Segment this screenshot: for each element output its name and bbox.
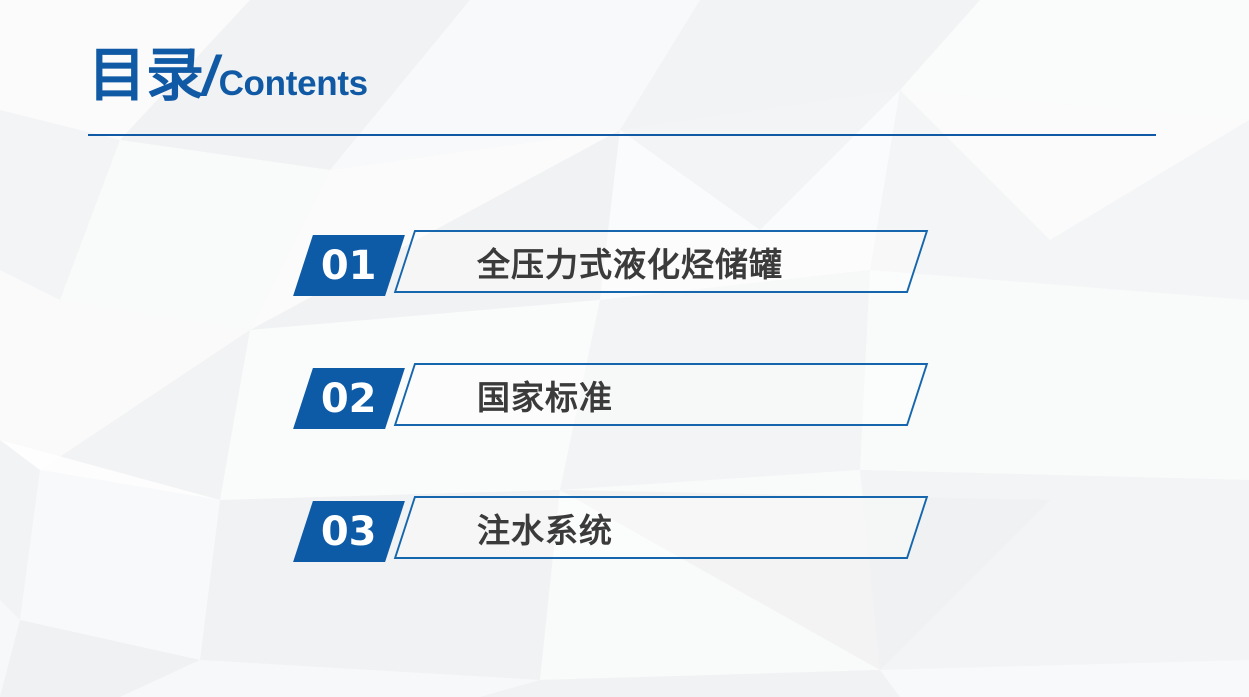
toc-row[interactable]: 02 国家标准 — [0, 361, 1249, 431]
contents-slide: 目录 / Contents 01 全压力式液化烃储罐 02 国家标准 03 注水… — [0, 0, 1249, 697]
toc-item-label: 注水系统 — [477, 496, 613, 559]
toc-number-badge: 01 — [293, 235, 405, 296]
toc-item-label: 全压力式液化烃储罐 — [477, 230, 783, 293]
slide-header: 目录 / Contents — [88, 44, 1158, 116]
toc-row[interactable]: 03 注水系统 — [0, 494, 1249, 564]
toc-number-label: 03 — [321, 512, 377, 552]
toc-item-label: 国家标准 — [477, 363, 613, 426]
title-row: 目录 / Contents — [88, 44, 1158, 116]
page-title-cn: 目录 — [88, 44, 204, 106]
toc-number-badge: 03 — [293, 501, 405, 562]
toc-number-label: 01 — [321, 246, 377, 286]
header-divider — [88, 134, 1156, 136]
toc-bar-outline — [394, 496, 928, 559]
page-title-en: Contents — [219, 64, 368, 104]
toc-bar-outline — [394, 363, 928, 426]
toc-row[interactable]: 01 全压力式液化烃储罐 — [0, 228, 1249, 298]
title-separator: / — [202, 45, 218, 107]
toc-number-badge: 02 — [293, 368, 405, 429]
toc-number-label: 02 — [321, 379, 377, 419]
